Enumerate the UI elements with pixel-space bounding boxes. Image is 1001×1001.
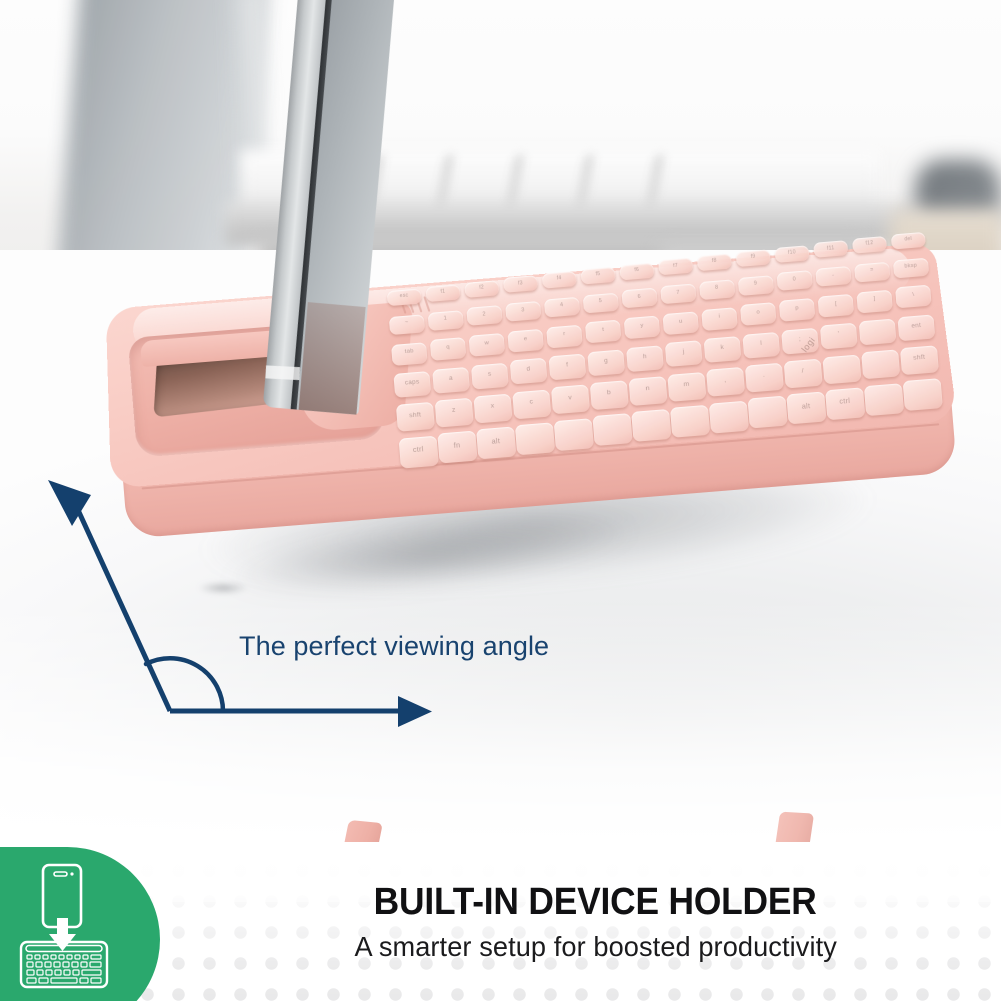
keyboard-key-label: / — [801, 368, 804, 375]
keyboard-key: f — [548, 354, 586, 381]
keyboard-key: f10 — [774, 245, 809, 263]
product-photo: esc~tabcapsshftctrlf11qazfnf22wsxaltf33e… — [0, 0, 1001, 842]
keyboard-key: del — [891, 232, 926, 250]
keyboard-key: t — [585, 320, 622, 344]
keyboard-key-label: w — [484, 340, 489, 346]
footer-headline: BUILT-IN DEVICE HOLDER — [374, 881, 817, 924]
keyboard-key — [748, 396, 788, 429]
keyboard-key-label: f4 — [557, 275, 562, 281]
keyboard-key-label: m — [683, 381, 690, 388]
keyboard-key-label: p — [795, 305, 799, 311]
keyboard-key-label: \ — [912, 292, 914, 298]
keyboard-key: f9 — [736, 249, 771, 267]
keyboard-key — [515, 422, 555, 455]
keyboard-key-label: 6 — [637, 294, 641, 300]
keyboard-key: m — [667, 372, 706, 402]
keyboard-key-label: l — [760, 340, 762, 347]
keyboard-key-label: t — [602, 327, 604, 333]
keyboard-key-label: d — [526, 366, 530, 373]
keyboard-key — [859, 319, 897, 346]
keyboard-key: f2 — [464, 280, 499, 298]
keyboard-key-label: f9 — [751, 254, 756, 260]
keyboard-key-label: i — [719, 314, 721, 320]
keyboard-key: alt — [786, 391, 826, 424]
keyboard-key-label: s — [488, 370, 492, 377]
keyboard-key-label: shft — [409, 411, 422, 419]
keyboard-key: 0 — [777, 271, 813, 292]
tablet-reflection — [299, 302, 366, 415]
keyboard-key-label: u — [679, 318, 683, 324]
keyboard-key-label: f12 — [865, 240, 873, 247]
arrow-right-icon — [398, 696, 432, 727]
keyboard-key-label: f1 — [440, 289, 445, 295]
keyboard-key: d — [510, 358, 548, 385]
tablet-antenna-band — [265, 365, 300, 380]
keyboard-key: 2 — [466, 305, 502, 326]
keyboard-key: y — [624, 316, 661, 340]
keyboard-key: = — [854, 262, 890, 283]
keyboard-key-label: r — [563, 331, 566, 337]
keyboard-key: ctrl — [825, 387, 865, 420]
keyboard-key-label: c — [529, 398, 533, 405]
keyboard-key-label: bksp — [904, 263, 917, 270]
keyboard-key: 9 — [738, 275, 774, 296]
keyboard-key-label: k — [720, 344, 724, 351]
keyboard-key-label: f6 — [634, 267, 639, 273]
keyboard-key: f12 — [852, 236, 887, 254]
keyboard-key-label: f — [566, 362, 569, 369]
keyboard-key: ] — [856, 289, 893, 313]
keyboard-key: / — [784, 359, 823, 389]
keyboard-key: tab — [391, 342, 428, 366]
keyboard-key-label: 3 — [521, 307, 525, 313]
keyboard-key-label: 0 — [793, 276, 797, 282]
keyboard-key — [631, 409, 671, 442]
footer-text-block: BUILT-IN DEVICE HOLDER A smarter setup f… — [190, 842, 1001, 1001]
phone-outline-icon — [43, 865, 81, 927]
arrow-shaft-icon — [57, 918, 68, 936]
keyboard-key: o — [740, 302, 777, 326]
keyboard-key — [709, 400, 749, 433]
keyboard-key-label: z — [452, 407, 456, 414]
keyboard-key: e — [507, 329, 544, 353]
keyboard-key-label: ctrl — [839, 396, 851, 406]
keyboard-key: b — [590, 380, 629, 410]
keyboard-key-label: ] — [873, 296, 875, 302]
keyboard-key-label: f10 — [788, 249, 796, 256]
keyboard-key-label: alt — [801, 401, 810, 411]
keyboard-key: \ — [895, 285, 932, 309]
keyboard-key-label: j — [682, 348, 684, 355]
keyboard-key: f7 — [658, 258, 693, 276]
keyboard-key-label: v — [568, 394, 572, 401]
keyboard-key: 7 — [660, 284, 696, 305]
keyboard-key-label: h — [643, 353, 647, 360]
keyboard-key-label: ' — [838, 331, 840, 338]
keyboard-key-label: b — [607, 390, 612, 397]
keyboard-key-label: 2 — [482, 311, 486, 317]
keyboard-key: shft — [396, 402, 435, 432]
keyboard-key: shft — [900, 345, 939, 375]
keyboard-key: u — [662, 311, 699, 335]
keyboard-key: q — [430, 337, 467, 361]
keyboard-key: p — [779, 298, 816, 322]
keyboard-key: a — [432, 367, 470, 394]
keyboard-key-label: 4 — [560, 303, 564, 309]
keyboard-key-label: f2 — [479, 284, 484, 290]
keyboard-key-label: [ — [835, 301, 837, 307]
keyboard-key: c — [512, 389, 551, 419]
keyboard-key: f5 — [581, 267, 616, 285]
keyboard-key: f1 — [425, 284, 460, 302]
footer-subline: A smarter setup for boosted productivity — [354, 931, 836, 963]
phone-speaker-icon — [54, 872, 67, 876]
keyboard-key-label: e — [524, 336, 528, 342]
keyboard-key — [670, 405, 710, 438]
keyboard-key-label: alt — [491, 436, 500, 446]
keyboard-key: 8 — [699, 279, 735, 300]
viewing-angle-annotation — [0, 430, 470, 760]
keyboard-key: - — [815, 266, 851, 287]
keyboard-key: 6 — [621, 288, 657, 309]
keyboard-key — [822, 354, 861, 384]
keyboard-key: caps — [393, 371, 431, 398]
keyboard-key-label: f5 — [595, 271, 600, 277]
keyboard-key: 3 — [505, 301, 541, 322]
keyboard-key — [592, 413, 632, 446]
keyboard-key-label: ~ — [405, 320, 409, 326]
keyboard-key: w — [469, 333, 506, 357]
device-into-keyboard-holder-icon — [18, 863, 110, 989]
keyboard-key: 4 — [544, 297, 580, 318]
keyboard-key: [ — [818, 294, 855, 318]
keyboard-key-label: f11 — [827, 245, 835, 252]
keyboard-key: , — [706, 367, 745, 397]
keyboard-key — [864, 383, 904, 416]
keyboard-key-label: 9 — [754, 281, 758, 287]
keyboard-key-label: del — [904, 236, 912, 243]
keyboard-key: k — [704, 336, 742, 363]
keyboard-key: esc — [387, 288, 422, 306]
keyboard-key: h — [626, 345, 664, 372]
keyboard-key-label: caps — [405, 379, 420, 387]
keyboard-key-label: tab — [405, 349, 415, 356]
keyboard-key-label: . — [763, 372, 766, 379]
keyboard-key-label: g — [604, 357, 608, 364]
keyboard-key-label: ; — [799, 335, 802, 342]
keyboard-key-label: 1 — [444, 316, 448, 322]
keyboard-key: j — [665, 341, 703, 368]
keyboard-key: l — [742, 332, 780, 359]
keyboard-key-label: = — [870, 268, 874, 274]
keyboard-key: 1 — [428, 310, 464, 331]
keyboard-key: alt — [476, 426, 516, 459]
keyboard-key-label: ent — [911, 322, 921, 330]
keyboard-key: r — [546, 324, 583, 348]
keyboard-key: f6 — [619, 262, 654, 280]
keyboard-key-label: 7 — [676, 289, 680, 295]
keyboard-key-label: shft — [913, 354, 926, 362]
keyboard-key: bksp — [893, 257, 929, 278]
keyboard-key — [554, 418, 594, 451]
keyboard-key: x — [473, 394, 512, 424]
keyboard-key-label: f3 — [518, 280, 523, 286]
keyboard-key: ent — [897, 314, 935, 341]
keyboard-key: ~ — [389, 314, 425, 335]
keyboard-key: . — [745, 363, 784, 393]
keyboard-key-label: q — [446, 344, 450, 350]
keyboard-key: n — [629, 376, 668, 406]
keyboard-key-label: f8 — [712, 258, 717, 264]
angle-diagonal-ray — [73, 499, 170, 711]
keyboard-key-label: a — [449, 375, 453, 382]
keyboard-key-label: x — [491, 403, 495, 410]
keyboard-key-label: , — [724, 376, 727, 383]
phone-camera-icon — [70, 872, 73, 875]
footer-band: BUILT-IN DEVICE HOLDER A smarter setup f… — [0, 842, 1001, 1001]
keyboard-key-label: o — [756, 310, 760, 316]
keyboard-key: f3 — [503, 275, 538, 293]
keyboard-key: v — [551, 385, 590, 415]
keyboard-key: f4 — [542, 271, 577, 289]
keyboard-key: f11 — [813, 240, 848, 258]
keyboard-keys-icon — [27, 955, 101, 983]
keyboard-key-label: n — [645, 385, 650, 392]
keyboard-key-label: - — [832, 272, 835, 278]
keyboard-key: ' — [820, 323, 858, 350]
keyboard-key: g — [587, 349, 625, 376]
keyboard-key-label: f7 — [673, 262, 678, 268]
keyboard-key-label: esc — [400, 293, 409, 300]
viewing-angle-label: The perfect viewing angle — [239, 631, 549, 662]
keyboard-key: z — [435, 398, 474, 428]
keyboard-key-label: y — [640, 323, 644, 329]
product-marketing-image: esc~tabcapsshftctrlf11qazfnf22wsxaltf33e… — [0, 0, 1001, 1001]
keyboard-key — [903, 378, 943, 411]
keyboard-key-label: 5 — [599, 298, 603, 304]
keyboard-key: f8 — [697, 254, 732, 272]
keyboard-key: s — [471, 362, 509, 389]
keyboard-key-label: 8 — [715, 285, 719, 291]
keyboard-key — [861, 350, 900, 380]
keyboard-key: 5 — [583, 292, 619, 313]
keyboard-key: i — [701, 307, 738, 331]
